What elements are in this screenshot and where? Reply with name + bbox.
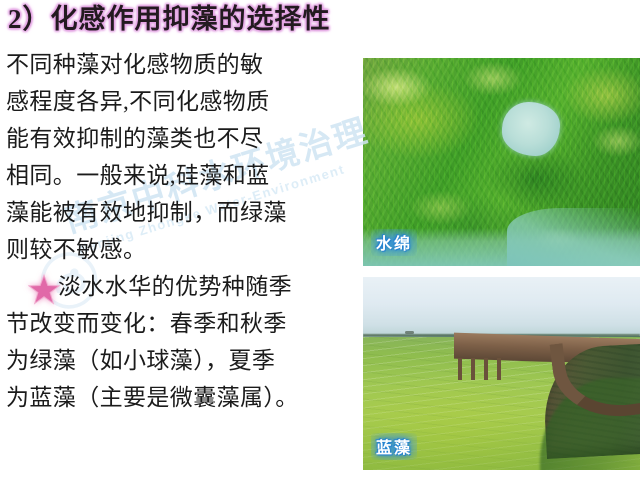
text-line: 相同。一般来说,硅藻和蓝	[6, 157, 358, 194]
slide-canvas: 2）化感作用抑藻的选择性 不同种藻对化感物质的敏 感程度各异,不同化感物质 能有…	[0, 0, 640, 480]
pier-structure	[454, 332, 640, 378]
text-line: 为绿藻（如小球藻），夏季	[6, 342, 358, 379]
text-line: 能有效抑制的藻类也不尽	[6, 120, 358, 157]
cyanobacteria-bloom-photo: 蓝藻	[363, 277, 640, 470]
text-line: 节改变而变化：春季和秋季	[6, 305, 358, 342]
water-edge-corner	[507, 208, 640, 266]
sky-layer	[363, 277, 640, 337]
photo-label-spirogyra: 水绵	[371, 229, 417, 256]
photo-label-cyanobacteria: 蓝藻	[371, 433, 417, 460]
star-icon	[28, 274, 60, 306]
body-text-column: 不同种藻对化感物质的敏 感程度各异,不同化感物质 能有效抑制的藻类也不尽 相同。…	[6, 46, 358, 416]
text-line: 则较不敏感。	[6, 231, 358, 268]
distant-boat	[405, 331, 414, 334]
text-line: 为蓝藻（主要是微囊藻属）。	[6, 379, 358, 416]
slide-title: 2）化感作用抑藻的选择性	[8, 2, 331, 36]
text-line-with-bullet: 淡水水华的优势种随季	[6, 268, 358, 305]
paragraph-selectivity: 不同种藻对化感物质的敏 感程度各异,不同化感物质 能有效抑制的藻类也不尽 相同。…	[6, 46, 358, 268]
text-line: 不同种藻对化感物质的敏	[6, 46, 358, 83]
open-water-patch	[502, 102, 560, 156]
spirogyra-algae-photo: 水绵	[363, 58, 640, 266]
text-line-label: 淡水水华的优势种随季	[58, 274, 292, 299]
pier-pilings	[458, 358, 520, 380]
text-line: 感程度各异,不同化感物质	[6, 83, 358, 120]
text-line: 藻能被有效地抑制，而绿藻	[6, 194, 358, 231]
paragraph-seasonal-dominance: 淡水水华的优势种随季 节改变而变化：春季和秋季 为绿藻（如小球藻），夏季 为蓝藻…	[6, 268, 358, 416]
